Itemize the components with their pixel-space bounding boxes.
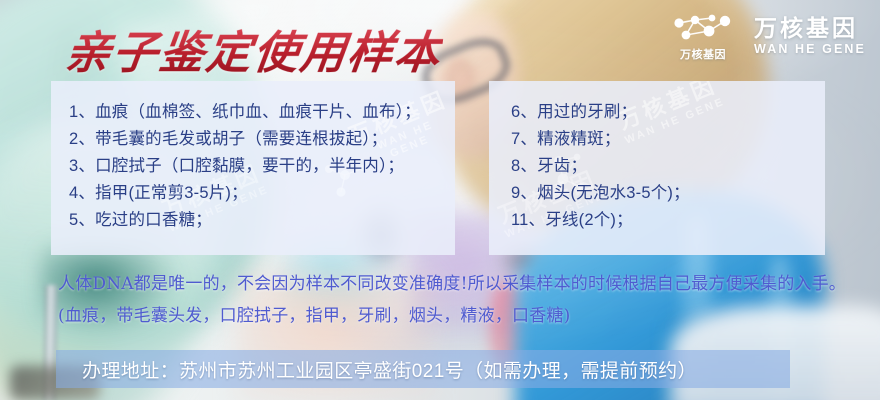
- sample-panel-right: 万核基因 WAN HE GENE 万核基因 WAN HE GENE: [489, 81, 825, 255]
- list-item: 1、血痕（血棉签、纸巾血、血痕干片、血布）；: [69, 99, 455, 126]
- address-text: 办理地址：苏州市苏州工业园区亭盛街021号（如需办理，需提前预约）: [56, 356, 697, 383]
- sample-list-right: 6、用过的牙刷； 7、精液精斑； 8、牙齿； 9、烟头(无泡水3-5个)； 11…: [489, 81, 825, 234]
- brand-logo[interactable]: 万核基因 万核基因 WAN HE GENE: [668, 12, 866, 61]
- molecule-icon: [668, 12, 738, 48]
- list-item: 6、用过的牙刷；: [511, 99, 825, 126]
- sample-panels: 万核基因 WAN HE GENE 万核基因 WAN HE GENE: [51, 81, 825, 255]
- list-item: 11、牙线(2个)；: [511, 207, 825, 234]
- list-item: 4、指甲(正常剪3-5片)；: [69, 180, 455, 207]
- page-title: 亲子鉴定使用样本: [62, 16, 446, 81]
- list-item: 9、烟头(无泡水3-5个)；: [511, 180, 825, 207]
- list-item: 2、带毛囊的毛发或胡子（需要连根拔起）；: [69, 126, 455, 153]
- note-text: 人体DNA都是唯一的，不会因为样本不同改变准确度!所以采集样本的时候根据自己最方…: [58, 268, 848, 332]
- sample-panel-left: 万核基因 WAN HE GENE 万核基因 WAN HE GENE: [51, 81, 455, 255]
- list-item: 8、牙齿；: [511, 153, 825, 180]
- list-item: 5、吃过的口香糖；: [69, 207, 455, 234]
- list-item: 7、精液精斑；: [511, 126, 825, 153]
- sample-list-left: 1、血痕（血棉签、纸巾血、血痕干片、血布）； 2、带毛囊的毛发或胡子（需要连根拔…: [51, 81, 455, 234]
- brand-name-en: WAN HE GENE: [754, 43, 866, 56]
- brand-mark-label: 万核基因: [680, 50, 726, 61]
- address-band: 办理地址：苏州市苏州工业园区亭盛街021号（如需办理，需提前预约）: [56, 350, 790, 388]
- brand-words: 万核基因 WAN HE GENE: [754, 17, 866, 56]
- poster-root: 亲子鉴定使用样本: [0, 0, 880, 400]
- list-item: 3、口腔拭子（口腔黏膜，要干的，半年内）；: [69, 153, 455, 180]
- brand-mark: 万核基因: [668, 12, 738, 61]
- brand-name-cn: 万核基因: [754, 17, 866, 41]
